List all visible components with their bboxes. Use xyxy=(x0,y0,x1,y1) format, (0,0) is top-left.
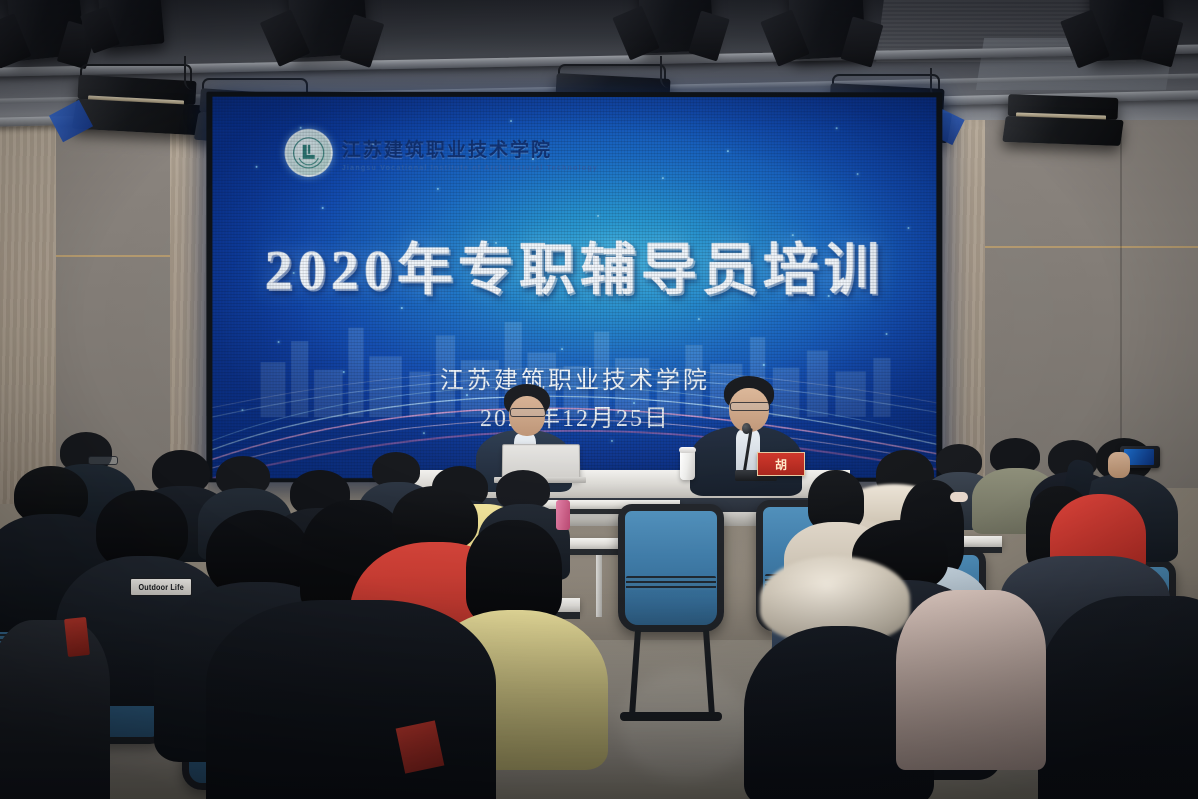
chair-lumbar-support xyxy=(626,576,715,590)
institute-name-cn: 江苏建筑职业技术学院 xyxy=(342,134,598,161)
vacuum-flask-lid xyxy=(679,447,696,453)
light-hood xyxy=(1002,116,1124,146)
speaker-glasses-icon xyxy=(510,408,546,417)
jacket-brand-patch: Outdoor Life xyxy=(130,578,192,596)
jacket-brand-patch-text: Outdoor Life xyxy=(138,583,183,592)
chair-backrest xyxy=(618,504,724,632)
nameplate-text: 胡 xyxy=(775,456,787,473)
conference-hall-photo: 江苏建筑职业技术学院 Jiangsu Vocational Institute … xyxy=(0,0,1198,799)
red-notebook xyxy=(64,617,90,657)
audience-coat xyxy=(206,600,496,799)
speaker-glasses-icon xyxy=(730,402,770,411)
wall-wood-right-inner xyxy=(941,86,985,486)
vacuum-flask xyxy=(680,450,695,480)
wall-panel-right xyxy=(985,88,1198,488)
floor-reflection xyxy=(620,670,750,780)
presentation-subtitle-date: 2020年12月25日 xyxy=(212,398,936,433)
audience-glasses-icon xyxy=(88,456,118,465)
screen-vignette xyxy=(212,97,936,479)
audience-coat xyxy=(896,590,1046,770)
particle-dots xyxy=(212,97,936,98)
power-cable xyxy=(660,56,684,88)
institute-emblem-icon xyxy=(285,129,333,177)
light-ribbon-graphic-upper xyxy=(212,344,936,434)
emblem-glyph xyxy=(293,137,325,169)
audience-coat xyxy=(0,620,110,799)
wall-wood-left-inner xyxy=(170,86,210,506)
wall-wood-left xyxy=(0,84,56,504)
speaker-nameplate: 胡 xyxy=(757,452,805,476)
institute-logo-lockup: 江苏建筑职业技术学院 Jiangsu Vocational Institute … xyxy=(285,129,598,177)
presentation-subtitle-org: 江苏建筑职业技术学院 xyxy=(212,360,936,395)
wall-gold-trim-right xyxy=(985,246,1198,248)
chair-center-left[interactable] xyxy=(618,504,724,632)
institute-name-en: Jiangsu Vocational Institute of Architec… xyxy=(342,162,598,171)
microphone-capsule-icon xyxy=(742,423,751,434)
chair-base-rail xyxy=(620,712,722,721)
hair-tie xyxy=(950,492,968,502)
led-display-screen: 江苏建筑职业技术学院 Jiangsu Vocational Institute … xyxy=(206,92,942,483)
audience-hair-long xyxy=(466,520,562,624)
photographer-hand xyxy=(1108,452,1130,478)
skyline-graphic xyxy=(241,303,907,418)
pink-tumbler xyxy=(556,500,570,530)
institute-logo-text: 江苏建筑职业技术学院 Jiangsu Vocational Institute … xyxy=(342,134,598,171)
desk-leg xyxy=(596,555,602,617)
wall-seam-right xyxy=(1120,88,1122,488)
audience-hair xyxy=(808,470,864,530)
screen-surface: 江苏建筑职业技术学院 Jiangsu Vocational Institute … xyxy=(212,97,936,479)
audience-coat xyxy=(1038,596,1198,799)
presentation-title: 2020年专职辅导员培训 xyxy=(212,225,936,306)
